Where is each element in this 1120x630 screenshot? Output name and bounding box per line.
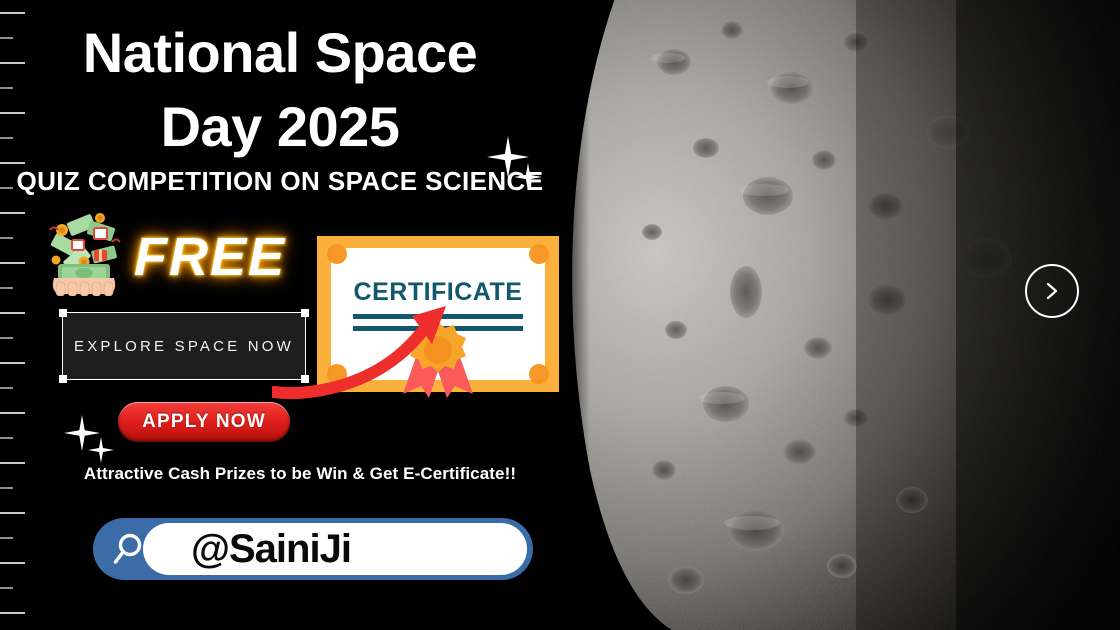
title-line-1: National Space xyxy=(0,16,560,90)
poster-canvas: National Space Day 2025 QUIZ COMPETITION… xyxy=(0,0,1120,630)
chevron-right-icon xyxy=(1042,281,1062,301)
ruler-tick xyxy=(0,212,25,214)
ruler-tick xyxy=(0,512,25,514)
sparkle-star-icon xyxy=(64,415,100,451)
ruler-tick xyxy=(0,537,13,539)
ruler-tick xyxy=(0,312,25,314)
ruler-tick xyxy=(0,437,13,439)
selection-handle-top-right[interactable] xyxy=(301,309,309,317)
apply-now-button[interactable]: APPLY NOW xyxy=(118,402,290,442)
username-label: @SainiJi xyxy=(191,529,351,569)
ruler-tick xyxy=(0,487,13,489)
ruler-tick xyxy=(0,387,13,389)
ruler-tick xyxy=(0,237,13,239)
money-with-wings-icon xyxy=(38,208,130,296)
moon-photo xyxy=(556,0,1120,630)
title-line-2: Day 2025 xyxy=(0,90,560,164)
page-subtitle: QUIZ COMPETITION ON SPACE SCIENCE xyxy=(0,166,560,197)
next-slide-button[interactable] xyxy=(1025,264,1079,318)
prize-text: Attractive Cash Prizes to be Win & Get E… xyxy=(0,464,600,484)
selection-handle-bottom-left[interactable] xyxy=(59,375,67,383)
ruler-tick xyxy=(0,12,25,14)
explore-space-now-label: EXPLORE SPACE NOW xyxy=(74,338,294,355)
username-handle-bar[interactable]: @SainiJi xyxy=(93,518,533,580)
moon-surface-illustration xyxy=(556,0,1120,630)
ruler-tick xyxy=(0,612,25,614)
page-title: National Space Day 2025 xyxy=(0,16,560,164)
explore-space-now-button[interactable]: EXPLORE SPACE NOW xyxy=(62,312,306,380)
handle-field[interactable]: @SainiJi xyxy=(143,523,527,575)
ruler-tick xyxy=(0,362,25,364)
search-icon xyxy=(113,529,153,569)
selection-handle-bottom-right[interactable] xyxy=(301,375,309,383)
free-badge: FREE xyxy=(134,226,286,288)
ruler-tick xyxy=(0,262,25,264)
selection-handle-top-left[interactable] xyxy=(59,309,67,317)
ruler-tick xyxy=(0,337,13,339)
ruler-tick xyxy=(0,412,25,414)
ruler-tick xyxy=(0,287,13,289)
sparkle-star-icon xyxy=(88,437,114,463)
ruler-tick xyxy=(0,587,13,589)
ruler-tick xyxy=(0,562,25,564)
